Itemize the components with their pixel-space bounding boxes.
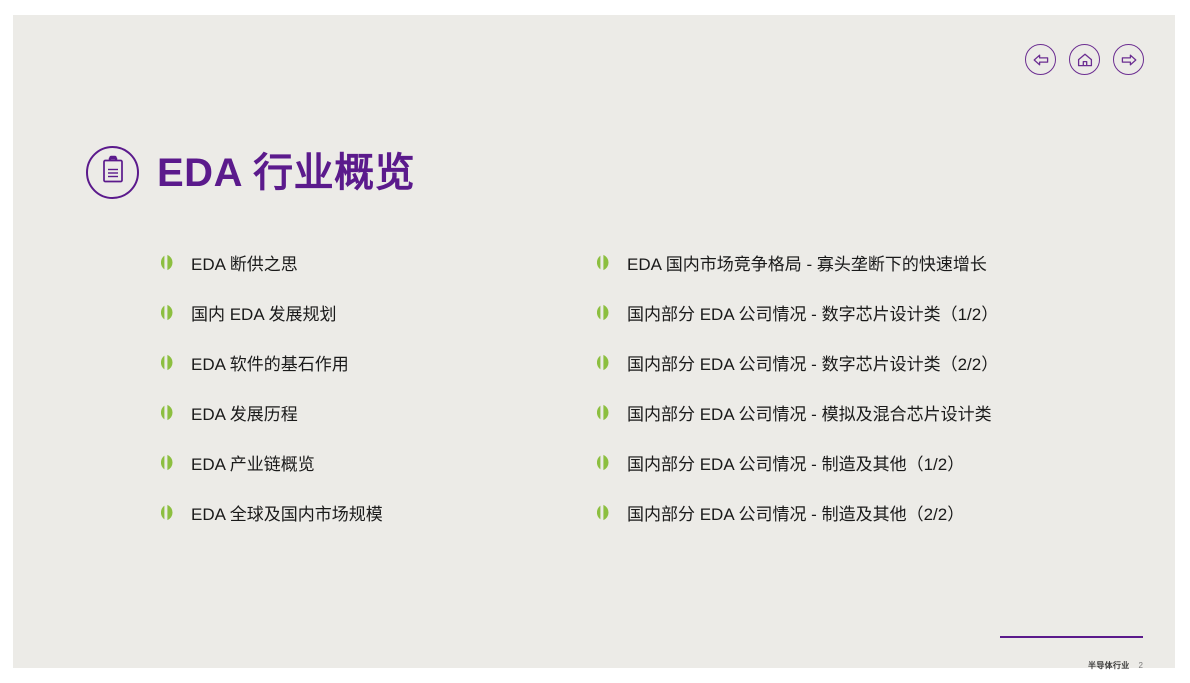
agenda-item[interactable]: 国内部分 EDA 公司情况 - 数字芯片设计类（2/2） [597, 340, 1117, 390]
agenda-item-label: 国内 EDA 发展规划 [191, 305, 336, 325]
chevron-bullet-icon [597, 353, 616, 377]
agenda-item-label: EDA 软件的基石作用 [191, 355, 349, 375]
arrow-left-icon [1032, 53, 1050, 67]
agenda-item-label: 国内部分 EDA 公司情况 - 数字芯片设计类（1/2） [627, 305, 998, 325]
agenda-item[interactable]: EDA 发展历程 [161, 390, 597, 440]
agenda-item-label: EDA 国内市场竞争格局 - 寡头垄断下的快速增长 [627, 255, 987, 275]
chevron-bullet-icon [597, 453, 616, 477]
agenda-item-label: 国内部分 EDA 公司情况 - 数字芯片设计类（2/2） [627, 355, 998, 375]
chevron-bullet-icon [161, 503, 180, 527]
page-title-row: EDA 行业概览 [86, 146, 415, 199]
agenda-item[interactable]: EDA 产业链概览 [161, 440, 597, 490]
footer: 半导体行业 2 [1088, 660, 1143, 671]
chevron-bullet-icon [161, 253, 180, 277]
back-button[interactable] [1025, 44, 1056, 75]
chevron-bullet-icon [161, 353, 180, 377]
title-badge [86, 146, 139, 199]
agenda-item[interactable]: 国内部分 EDA 公司情况 - 制造及其他（2/2） [597, 490, 1117, 540]
slide-canvas: EDA 行业概览 EDA 断供之思 [13, 15, 1175, 668]
chevron-bullet-icon [161, 453, 180, 477]
chevron-bullet-icon [161, 403, 180, 427]
chevron-bullet-icon [597, 303, 616, 327]
agenda-column-left: EDA 断供之思 国内 EDA 发展规划 E [161, 240, 597, 540]
page-number: 2 [1139, 661, 1143, 670]
footer-brand: 半导体行业 [1088, 660, 1130, 671]
agenda-item-label: EDA 断供之思 [191, 255, 298, 275]
chevron-bullet-icon [161, 303, 180, 327]
chevron-bullet-icon [597, 253, 616, 277]
clipboard-icon [99, 155, 127, 190]
agenda-item-label: EDA 发展历程 [191, 405, 298, 425]
agenda-item-label: 国内部分 EDA 公司情况 - 模拟及混合芯片设计类 [627, 405, 992, 425]
forward-button[interactable] [1113, 44, 1144, 75]
agenda-item-label: EDA 全球及国内市场规模 [191, 505, 383, 525]
home-button[interactable] [1069, 44, 1100, 75]
agenda-item-label: EDA 产业链概览 [191, 455, 315, 475]
page-title: EDA 行业概览 [157, 153, 415, 193]
chevron-bullet-icon [597, 403, 616, 427]
agenda-item[interactable]: EDA 断供之思 [161, 240, 597, 290]
agenda-item[interactable]: EDA 软件的基石作用 [161, 340, 597, 390]
agenda-item[interactable]: 国内部分 EDA 公司情况 - 模拟及混合芯片设计类 [597, 390, 1117, 440]
footer-divider [1000, 636, 1143, 638]
arrow-right-icon [1120, 53, 1138, 67]
agenda-item[interactable]: 国内部分 EDA 公司情况 - 制造及其他（1/2） [597, 440, 1117, 490]
agenda-item[interactable]: 国内部分 EDA 公司情况 - 数字芯片设计类（1/2） [597, 290, 1117, 340]
agenda-column-right: EDA 国内市场竞争格局 - 寡头垄断下的快速增长 国内部分 EDA 公司情况 … [597, 240, 1117, 540]
agenda-item-label: 国内部分 EDA 公司情况 - 制造及其他（1/2） [627, 455, 964, 475]
agenda-item-label: 国内部分 EDA 公司情况 - 制造及其他（2/2） [627, 505, 964, 525]
agenda-item[interactable]: EDA 全球及国内市场规模 [161, 490, 597, 540]
agenda-item[interactable]: 国内 EDA 发展规划 [161, 290, 597, 340]
home-icon [1076, 52, 1094, 68]
agenda-list: EDA 断供之思 国内 EDA 发展规划 E [161, 240, 1121, 540]
navigation-bar [1025, 44, 1144, 75]
agenda-item[interactable]: EDA 国内市场竞争格局 - 寡头垄断下的快速增长 [597, 240, 1117, 290]
chevron-bullet-icon [597, 503, 616, 527]
